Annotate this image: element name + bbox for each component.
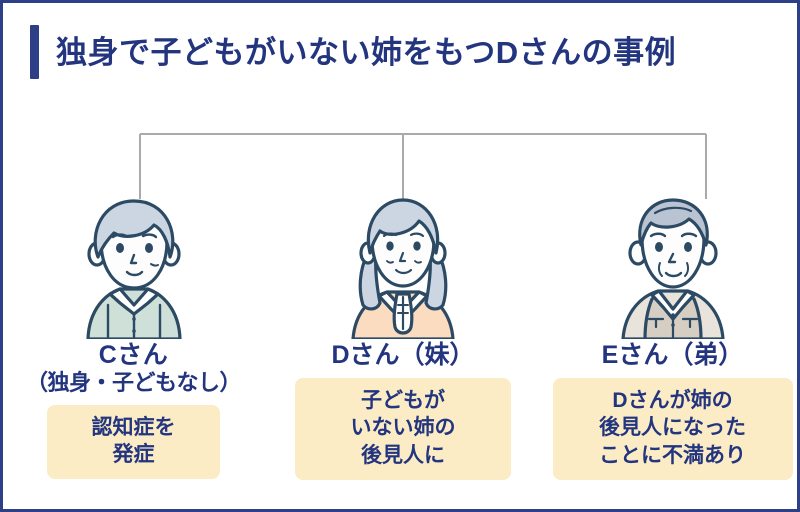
person-d-name-block: Dさん（妹）: [331, 341, 474, 370]
diagram-canvas: 独身で子どもがいない姉をもつDさんの事例: [0, 0, 800, 512]
badge-line: 発症: [61, 441, 206, 468]
badge-line: 認知症を: [61, 414, 206, 441]
person-card-e: Eさん（弟） Dさんが姉の 後見人になった ことに不満あり: [545, 193, 800, 480]
person-e-status-badge: Dさんが姉の 後見人になった ことに不満あり: [553, 378, 793, 480]
person-card-d: Dさん（妹） 子どもが いない姉の 後見人に: [276, 193, 531, 480]
person-e-name: Eさん（弟）: [602, 341, 744, 370]
person-e-name-block: Eさん（弟）: [602, 341, 744, 370]
elderly-man-vest-avatar: [597, 193, 749, 339]
badge-line: 後見人になった: [567, 414, 779, 441]
person-c-status-badge: 認知症を 発症: [47, 405, 220, 480]
badge-line: ことに不満あり: [567, 442, 779, 469]
woman-braids-hands-clasped-avatar: [327, 193, 479, 339]
badge-line: 後見人に: [309, 442, 497, 469]
person-d-name: Dさん（妹）: [331, 341, 474, 370]
page-title-text: 独身で子どもがいない姉をもつDさんの事例: [56, 37, 676, 68]
title-accent-bar: [30, 25, 39, 79]
person-c-name: Cさん: [26, 341, 241, 370]
person-c-name-block: Cさん （独身・子どもなし）: [26, 341, 241, 396]
badge-line: 子どもが: [309, 387, 497, 414]
person-card-c: Cさん （独身・子どもなし） 認知症を 発症: [6, 193, 261, 479]
people-row: Cさん （独身・子どもなし） 認知症を 発症: [6, 193, 800, 480]
person-c-subtitle: （独身・子どもなし）: [26, 370, 241, 396]
person-d-status-badge: 子どもが いない姉の 後見人に: [295, 378, 511, 480]
badge-line: Dさんが姉の: [567, 387, 779, 414]
elderly-woman-short-hair-avatar: [58, 193, 210, 339]
page-title: 独身で子どもがいない姉をもつDさんの事例: [30, 25, 676, 79]
badge-line: いない姉の: [309, 414, 497, 441]
